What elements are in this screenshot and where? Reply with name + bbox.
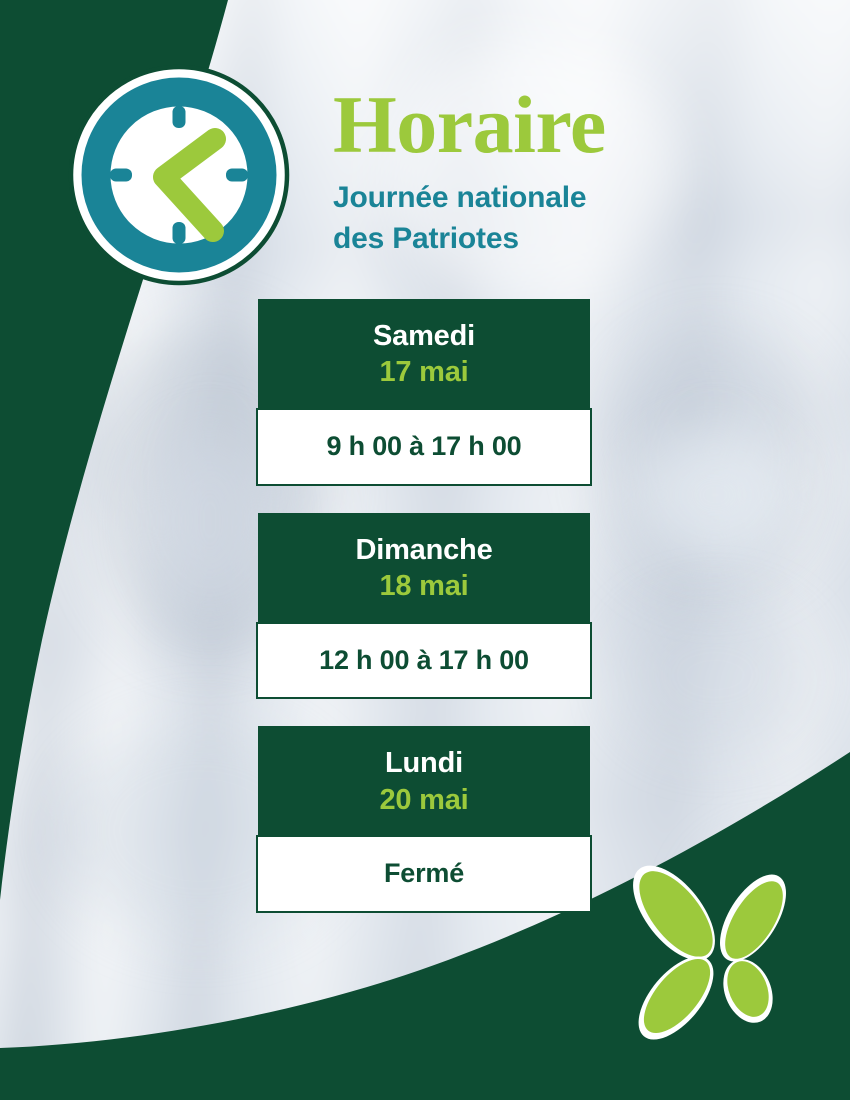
schedule-card: Lundi 20 mai Fermé bbox=[256, 726, 592, 913]
schedule-card-header: Dimanche 18 mai bbox=[258, 513, 590, 622]
schedule-date: 17 mai bbox=[268, 355, 580, 390]
schedule-hours: 12 h 00 à 17 h 00 bbox=[266, 646, 582, 676]
page-title: Horaire bbox=[333, 86, 753, 164]
clock-icon bbox=[68, 64, 290, 286]
schedule-card-list: Samedi 17 mai 9 h 00 à 17 h 00 Dimanche … bbox=[256, 299, 592, 913]
page-subtitle: Journée nationale des Patriotes bbox=[333, 178, 753, 260]
schedule-day-name: Samedi bbox=[268, 319, 580, 353]
schedule-card-body: Fermé bbox=[256, 835, 592, 913]
schedule-card: Dimanche 18 mai 12 h 00 à 17 h 00 bbox=[256, 513, 592, 700]
butterfly-logo bbox=[622, 858, 810, 1048]
schedule-date: 20 mai bbox=[268, 783, 580, 818]
schedule-date: 18 mai bbox=[268, 569, 580, 604]
background-blur-shape bbox=[640, 430, 790, 560]
schedule-day-name: Lundi bbox=[268, 746, 580, 780]
schedule-day-name: Dimanche bbox=[268, 533, 580, 567]
schedule-poster: Horaire Journée nationale des Patriotes … bbox=[0, 0, 850, 1100]
subtitle-line-2: des Patriotes bbox=[333, 219, 753, 260]
schedule-card-body: 9 h 00 à 17 h 00 bbox=[256, 408, 592, 486]
schedule-card-header: Samedi 17 mai bbox=[258, 299, 590, 408]
schedule-card-header: Lundi 20 mai bbox=[258, 726, 590, 835]
subtitle-line-1: Journée nationale bbox=[333, 178, 753, 219]
schedule-card-body: 12 h 00 à 17 h 00 bbox=[256, 622, 592, 700]
header-text-block: Horaire Journée nationale des Patriotes bbox=[333, 86, 753, 259]
schedule-hours: Fermé bbox=[266, 859, 582, 889]
schedule-hours: 9 h 00 à 17 h 00 bbox=[266, 432, 582, 462]
schedule-card: Samedi 17 mai 9 h 00 à 17 h 00 bbox=[256, 299, 592, 486]
